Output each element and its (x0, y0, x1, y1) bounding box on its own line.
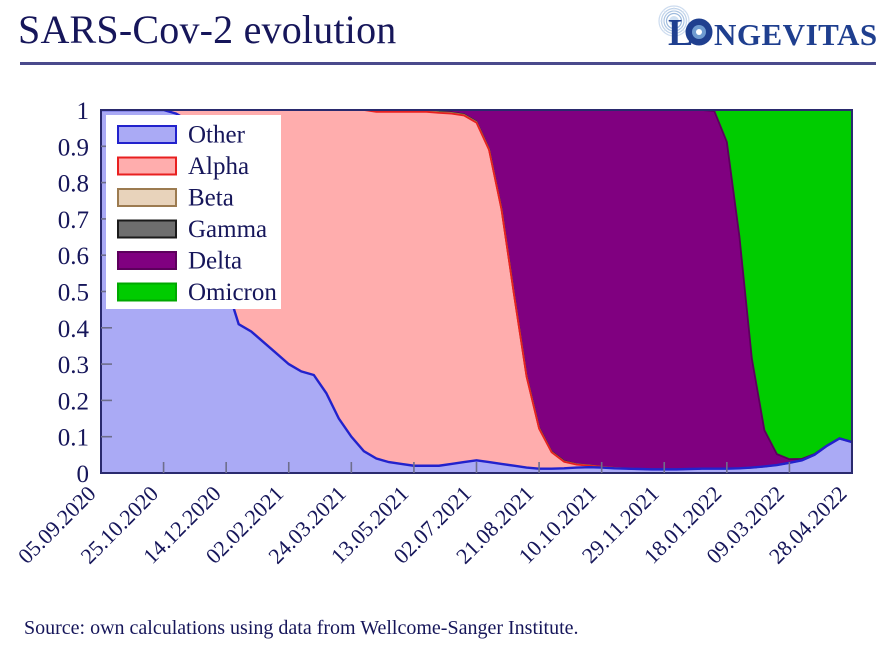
legend-swatch-delta[interactable] (118, 252, 176, 269)
legend-label-other: Other (188, 122, 246, 149)
y-tick-label: 0.5 (58, 280, 89, 307)
y-tick-label: 0.1 (58, 425, 89, 452)
legend-swatch-beta[interactable] (118, 189, 176, 206)
y-tick-label: 0.6 (58, 243, 89, 270)
y-tick-label: 0.7 (58, 207, 89, 234)
logo-wordmark: L NGEVITAS (668, 12, 878, 51)
y-tick-label: 0.4 (58, 316, 90, 343)
source-note: Source: own calculations using data from… (24, 617, 579, 640)
logo-letter-o-core (696, 29, 702, 35)
y-tick-label: 1 (77, 98, 90, 125)
title-divider (20, 62, 876, 65)
legend-swatch-gamma[interactable] (118, 221, 176, 238)
page-title: SARS-Cov-2 evolution (18, 6, 396, 54)
chart-legend: OtherAlphaBetaGammaDeltaOmicron (106, 115, 281, 309)
y-tick-label: 0.2 (58, 388, 89, 415)
legend-swatch-alpha[interactable] (118, 158, 176, 175)
y-tick-label: 0.8 (58, 171, 89, 198)
longevitas-logo: L NGEVITAS (652, 6, 884, 50)
variant-share-area-chart: 00.10.20.30.40.50.60.70.80.91 05.09.2020… (0, 78, 892, 608)
y-tick-label: 0.3 (58, 352, 89, 379)
legend-swatch-omicron[interactable] (118, 284, 176, 301)
legend-label-beta: Beta (188, 185, 234, 212)
legend-label-alpha: Alpha (188, 153, 249, 180)
legend-label-gamma: Gamma (188, 216, 267, 243)
logo-wordmark-rest: NGEVITAS (714, 17, 878, 51)
y-tick-label: 0.9 (58, 134, 89, 161)
legend-label-omicron: Omicron (188, 279, 277, 306)
page-header: SARS-Cov-2 evolution (0, 0, 892, 72)
legend-swatch-other[interactable] (118, 126, 176, 143)
legend-label-delta: Delta (188, 248, 242, 275)
chart-canvas: 00.10.20.30.40.50.60.70.80.91 05.09.2020… (0, 78, 892, 608)
x-axis: 05.09.202025.10.202014.12.202002.02.2021… (13, 462, 852, 569)
logo-svg: L NGEVITAS (652, 5, 884, 51)
